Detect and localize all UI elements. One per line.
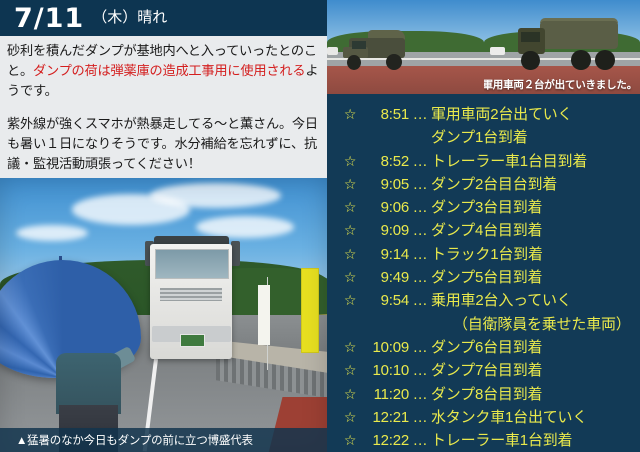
note-paragraph-1: 砂利を積んだダンプが基地内へと入っていったとのこと。ダンプの荷は弾薬庫の造成工事…	[7, 41, 319, 101]
log-entry: ☆8:52…トレーラー車1台目到着	[327, 150, 640, 173]
log-entry-time: 9:54	[363, 289, 409, 312]
star-icon: ☆	[327, 243, 363, 266]
log-entry: ☆12:22…トレーラー車1台到着	[327, 429, 640, 452]
log-entry-text: トレーラー車1台到着	[431, 429, 640, 452]
log-entry-continuation: ☆9:54…（自衛隊員を乗せた車両）	[327, 313, 640, 336]
note-paragraph-2: 紫外線が強くスマホが熱暴走してる〜と薫さん。今日も暑い１日になりそうです。水分補…	[7, 114, 319, 174]
ellipsis-separator: …	[409, 406, 431, 429]
log-entry: ☆9:05…ダンプ2台目台到着	[327, 173, 640, 196]
ellipsis-separator: …	[409, 173, 431, 196]
ellipsis-separator: …	[409, 429, 431, 452]
log-entry: ☆12:21…水タンク車1台出ていく	[327, 406, 640, 429]
weather-label: （木）晴れ	[92, 10, 167, 27]
truck-canopy	[540, 21, 618, 49]
photo-strip: 軍用車両２台が出ていきました。	[327, 0, 640, 94]
lane-marking	[484, 58, 640, 60]
log-entry-continuation: ☆8:51…ダンプ1台到着	[327, 126, 640, 149]
log-entry: ☆11:20…ダンプ8台目到着	[327, 383, 640, 406]
log-entry-text: ダンプ1台到着	[431, 126, 640, 149]
log-entry-text: トレーラー車1台目到着	[431, 150, 640, 173]
log-entry-text: （自衛隊員を乗せた車両）	[431, 313, 640, 336]
header-bar: 7/11 （木）晴れ	[0, 0, 327, 36]
background-car	[490, 47, 506, 55]
log-entry: ☆8:51…軍用車両2台出ていく	[327, 103, 640, 126]
activity-log-list: ☆8:51…軍用車両2台出ていく☆8:51…ダンプ1台到着☆8:52…トレーラー…	[327, 100, 640, 452]
left-column: 7/11 （木）晴れ 砂利を積んだダンプが基地内へと入っていったとのこと。ダンプ…	[0, 0, 327, 452]
star-icon: ☆	[327, 359, 363, 382]
log-entry-time: 8:52	[363, 150, 409, 173]
log-entry-time: 10:09	[363, 336, 409, 359]
jeep-wheel	[386, 54, 402, 70]
star-icon: ☆	[327, 103, 363, 126]
log-entry-text: 水タンク車1台出ていく	[431, 406, 640, 429]
log-entry-time: 11:20	[363, 383, 409, 406]
star-icon: ☆	[327, 150, 363, 173]
ellipsis-separator: …	[409, 219, 431, 242]
main-photo-caption-bar: ▲猛暑のなか今日もダンプの前に立つ博盛代表	[0, 428, 327, 452]
background-car	[327, 47, 338, 55]
log-entry-time: 12:21	[363, 406, 409, 429]
log-entry-text: トラック1台到着	[431, 243, 640, 266]
ellipsis-separator: …	[409, 243, 431, 266]
log-entry: ☆9:49…ダンプ5台目到着	[327, 266, 640, 289]
star-icon: ☆	[327, 429, 363, 452]
star-icon: ☆	[327, 289, 363, 312]
note-panel: 砂利を積んだダンプが基地内へと入っていったとのこと。ダンプの荷は弾薬庫の造成工事…	[0, 36, 327, 178]
note-text-highlight: ダンプの荷は弾薬庫の造成工事用に使用される	[33, 63, 305, 78]
log-entry-time: 9:49	[363, 266, 409, 289]
ellipsis-separator: …	[409, 336, 431, 359]
log-entry-text: ダンプ4台目到着	[431, 219, 640, 242]
right-column: 軍用車両２台が出ていきました。 ☆8:51…軍用車両2台出ていく☆8:51…ダン…	[327, 0, 640, 452]
photo-strip-caption: 軍用車両２台が出ていきました。	[484, 77, 638, 92]
jeep-wheel	[347, 55, 361, 70]
star-icon: ☆	[327, 406, 363, 429]
ellipsis-separator: …	[409, 196, 431, 219]
log-entry-time: 10:10	[363, 359, 409, 382]
log-entry-text: ダンプ8台目到着	[431, 383, 640, 406]
log-entry-time: 12:22	[363, 429, 409, 452]
page-title: 7/11	[14, 5, 84, 32]
log-entry-text: ダンプ3台目到着	[431, 196, 640, 219]
truck-wheel	[521, 51, 540, 71]
ellipsis-separator: …	[409, 266, 431, 289]
star-icon: ☆	[327, 173, 363, 196]
log-entry-time: 9:09	[363, 219, 409, 242]
log-entry: ☆9:06…ダンプ3台目到着	[327, 196, 640, 219]
star-icon: ☆	[327, 383, 363, 406]
log-entry-text: 乗用車2台入っていく	[431, 289, 640, 312]
log-entry-text: ダンプ5台目到着	[431, 266, 640, 289]
log-entry: ☆10:09…ダンプ6台目到着	[327, 336, 640, 359]
log-entry: ☆10:10…ダンプ7台目到着	[327, 359, 640, 382]
red-pavement	[327, 66, 484, 94]
poster-root: 7/11 （木）晴れ 砂利を積んだダンプが基地内へと入っていったとのこと。ダンプ…	[0, 0, 640, 452]
jeep-window	[352, 41, 366, 49]
log-entry-text: ダンプ6台目到着	[431, 336, 640, 359]
log-entry-text: 軍用車両2台出ていく	[431, 103, 640, 126]
log-entry-time: 8:51	[363, 103, 409, 126]
ellipsis-separator: …	[409, 383, 431, 406]
log-entry: ☆9:09…ダンプ4台目到着	[327, 219, 640, 242]
star-icon: ☆	[327, 219, 363, 242]
star-icon: ☆	[327, 196, 363, 219]
log-entry-text: ダンプ7台目到着	[431, 359, 640, 382]
truck-window	[521, 32, 540, 42]
star-icon: ☆	[327, 336, 363, 359]
main-photo: ▲猛暑のなか今日もダンプの前に立つ博盛代表	[0, 178, 327, 452]
ellipsis-separator: …	[409, 103, 431, 126]
log-entry-time: 9:05	[363, 173, 409, 196]
ellipsis-separator: …	[409, 359, 431, 382]
log-entry: ☆9:54…乗用車2台入っていく	[327, 289, 640, 312]
main-photo-caption: ▲猛暑のなか今日もダンプの前に立つ博盛代表	[16, 432, 253, 448]
ellipsis-separator: …	[409, 150, 431, 173]
photo-military-truck: 軍用車両２台が出ていきました。	[484, 0, 640, 94]
log-entry: ☆9:14…トラック1台到着	[327, 243, 640, 266]
photo-vignette	[0, 178, 327, 452]
ellipsis-separator: …	[409, 289, 431, 312]
photo-military-jeep	[327, 0, 484, 94]
log-entry-time: 9:14	[363, 243, 409, 266]
log-entry-text: ダンプ2台目台到着	[431, 173, 640, 196]
star-icon: ☆	[327, 266, 363, 289]
log-entry-time: 9:06	[363, 196, 409, 219]
